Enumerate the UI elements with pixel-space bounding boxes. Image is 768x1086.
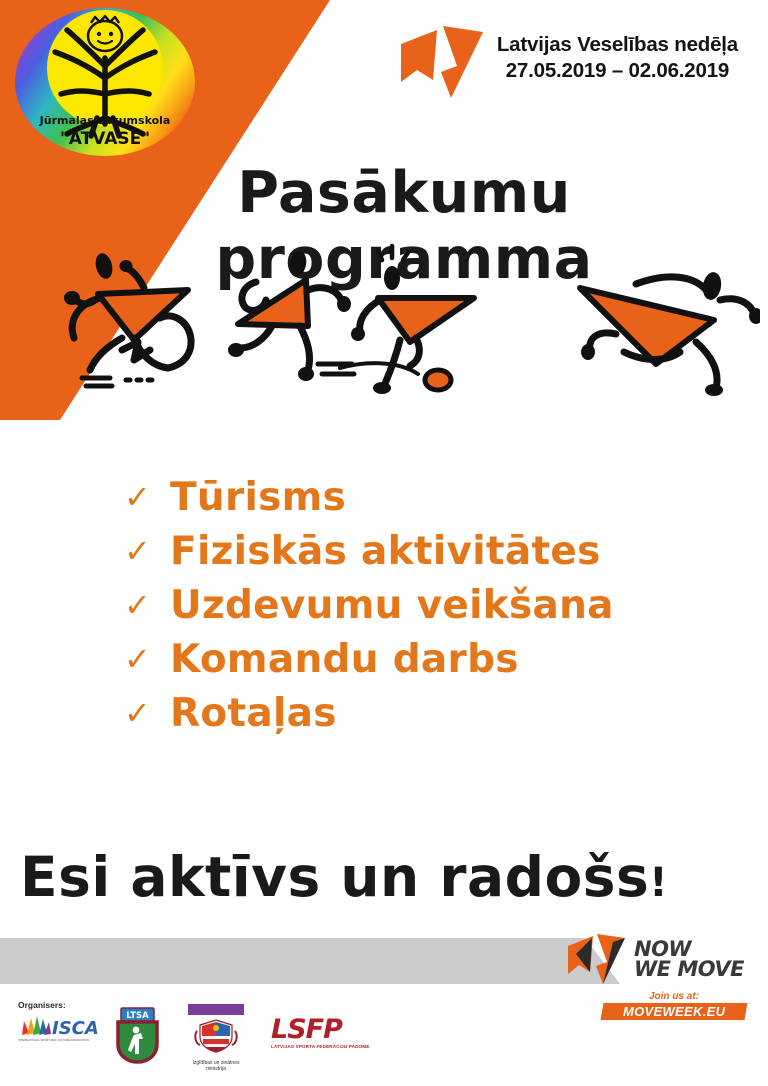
list-item[interactable]: ✓ Komandu darbs [124, 640, 614, 694]
organisers-row: Organisers: ISCA INTERNATIONAL SPORT AND… [18, 1000, 381, 1073]
logo-izglitibas-ministrija[interactable]: Izglītības un zinātnes ministrija [177, 1004, 255, 1073]
list-item-label: Tūrisms [170, 478, 346, 517]
list-item-label: Uzdevumu veikšana [170, 586, 614, 625]
izm-purple-bar [188, 1004, 244, 1015]
running-stick-figures-illustration [60, 238, 760, 398]
list-item[interactable]: ✓ Uzdevumu veikšana [124, 586, 614, 640]
check-icon: ✓ [124, 697, 150, 729]
ltsa-wordmark: LTSA [126, 1011, 149, 1021]
event-dates: 27.05.2019 – 02.06.2019 [497, 58, 738, 85]
logo-ltsa[interactable]: LTSA [114, 1006, 161, 1069]
organisers-label: Organisers: [18, 1000, 98, 1010]
header-block: Latvijas Veselības nedēļa 27.05.2019 – 0… [397, 22, 738, 104]
check-icon: ✓ [124, 589, 150, 621]
check-icon: ✓ [124, 481, 150, 513]
list-item-label: Komandu darbs [170, 640, 519, 679]
lsfp-wordmark: LSFP [271, 1016, 381, 1043]
list-item-label: Fiziskās aktivitātes [170, 532, 601, 571]
slogan-punctuation: ! [649, 860, 668, 906]
program-checklist: ✓ Tūrisms ✓ Fiziskās aktivitātes ✓ Uzdev… [124, 478, 614, 748]
moveweek-url-badge[interactable]: MOVEWEEK.EU [601, 1003, 748, 1020]
check-icon: ✓ [124, 643, 150, 675]
slogan: Esi aktīvs un radošs! [0, 845, 768, 909]
list-item[interactable]: ✓ Tūrisms [124, 478, 614, 532]
isca-wordmark: ISCA [52, 1018, 98, 1037]
footer-grey-band [0, 938, 620, 984]
join-us-label: Join us at: [602, 991, 746, 1002]
latvia-coat-of-arms-icon [192, 1017, 240, 1053]
isca-subtext: INTERNATIONAL SPORT AND CULTURE ASSOCIAT… [18, 1039, 98, 1042]
now-we-move-footer-logo[interactable]: NOW WE MOVE Join us at: MOVEWEEK.EU [566, 932, 746, 1020]
poster-canvas: Jūrmalas sākumskola "ATVASE" Latvijas Ve… [0, 0, 768, 1086]
check-icon: ✓ [124, 535, 150, 567]
logo-isca[interactable]: Organisers: ISCA INTERNATIONAL SPORT AND… [18, 1000, 98, 1042]
event-title: Latvijas Veselības nedēļa [497, 32, 738, 58]
moveweek-url-text: MOVEWEEK.EU [623, 1004, 725, 1019]
slogan-text: Esi aktīvs un radošs [20, 845, 649, 909]
list-item[interactable]: ✓ Rotaļas [124, 694, 614, 748]
list-item-label: Rotaļas [170, 694, 337, 733]
school-logo-line1: Jūrmalas sākumskola [39, 114, 171, 127]
now-we-move-word2: WE MOVE [634, 960, 744, 980]
school-logo-atvase: Jūrmalas sākumskola "ATVASE" [13, 6, 198, 158]
lsfp-subtext: LATVIJAS SPORTA FEDERĀCIJU PADOME [271, 1044, 381, 1049]
now-we-move-arrow-icon [566, 932, 628, 988]
logo-lsfp[interactable]: LSFP LATVIJAS SPORTA FEDERĀCIJU PADOME [271, 1016, 381, 1049]
now-we-move-arrow-icon [397, 22, 487, 104]
izm-caption-line2: ministrija [177, 1066, 255, 1072]
school-logo-line2: "ATVASE" [60, 129, 150, 149]
list-item[interactable]: ✓ Fiziskās aktivitātes [124, 532, 614, 586]
